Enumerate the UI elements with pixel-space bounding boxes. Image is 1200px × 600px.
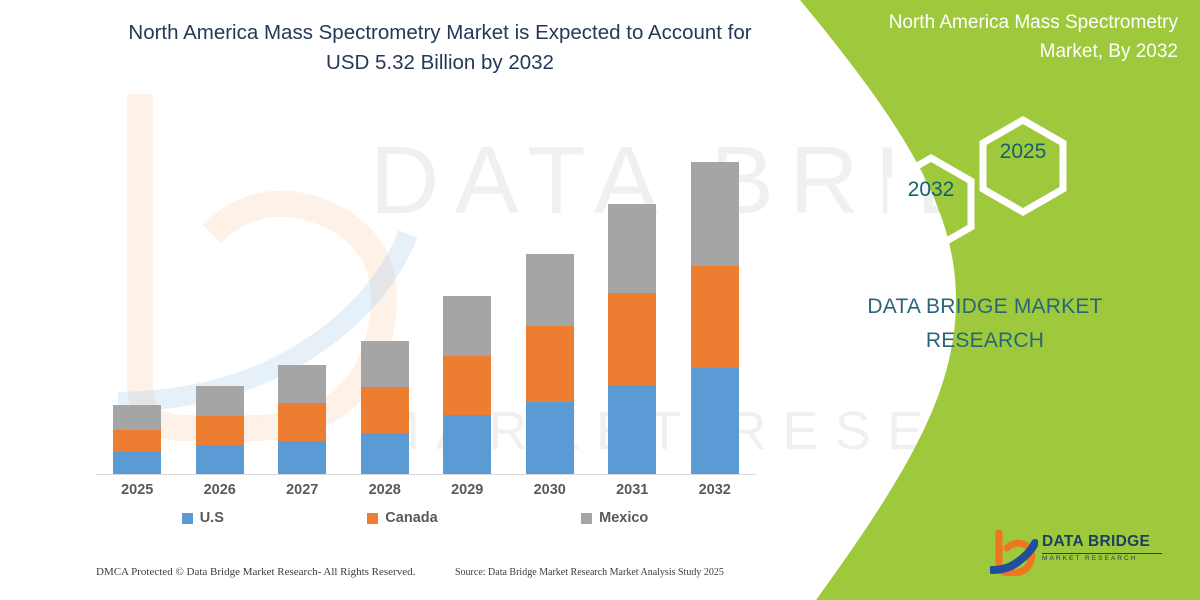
bar-segment-us-2026 — [196, 445, 244, 474]
bar-segment-mexico-2030 — [526, 254, 574, 326]
bar-column — [426, 150, 508, 474]
legend-swatch-icon — [367, 513, 378, 524]
x-tick-2026: 2026 — [179, 482, 261, 498]
chart-x-axis — [96, 474, 756, 475]
bar-column — [261, 150, 343, 474]
panel-title: North America Mass Spectrometry Market, … — [858, 8, 1178, 67]
bar-segment-us-2028 — [361, 433, 409, 474]
bar-segment-us-2030 — [526, 402, 574, 474]
stacked-bar-2026[interactable] — [196, 386, 244, 474]
x-axis-tick-labels: 20252026202720282029203020312032 — [96, 482, 756, 498]
legend-item-mexico[interactable]: Mexico — [581, 510, 648, 526]
panel-brand-text: DATA BRIDGE MARKET RESEARCH — [820, 290, 1150, 357]
legend-label: Canada — [385, 510, 437, 526]
x-tick-2032: 2032 — [674, 482, 756, 498]
bar-segment-us-2031 — [608, 385, 656, 474]
x-tick-2031: 2031 — [591, 482, 673, 498]
bar-segment-us-2025 — [113, 452, 161, 474]
bar-segment-mexico-2029 — [443, 296, 491, 356]
bar-column — [96, 150, 178, 474]
legend-item-us[interactable]: U.S — [182, 510, 224, 526]
bar-chart-plot-area — [96, 150, 756, 474]
logo-subtitle: MARKET RESEARCH — [1042, 556, 1170, 563]
stacked-bar-2027[interactable] — [278, 365, 326, 474]
x-tick-2025: 2025 — [96, 482, 178, 498]
footer-source-note: Source: Data Bridge Market Research Mark… — [455, 567, 724, 578]
x-tick-2029: 2029 — [426, 482, 508, 498]
infographic-canvas: DATA BRIDGE MARKET RESEARCH North Americ… — [0, 0, 1200, 600]
stacked-bar-2031[interactable] — [608, 204, 656, 474]
stacked-bar-2030[interactable] — [526, 254, 574, 475]
brand-logo: DATA BRIDGE MARKET RESEARCH — [990, 528, 1170, 580]
bar-segment-canada-2026 — [196, 416, 244, 445]
bar-segment-us-2032 — [691, 368, 739, 474]
page-title: North America Mass Spectrometry Market i… — [120, 18, 760, 77]
legend-swatch-icon — [182, 513, 193, 524]
legend-swatch-icon — [581, 513, 592, 524]
bar-segment-canada-2031 — [608, 293, 656, 385]
bar-segment-mexico-2028 — [361, 341, 409, 387]
bar-segment-canada-2027 — [278, 403, 326, 441]
bar-column — [179, 150, 261, 474]
bar-segment-mexico-2031 — [608, 204, 656, 293]
legend-item-canada[interactable]: Canada — [367, 510, 437, 526]
bar-segment-canada-2032 — [691, 266, 739, 368]
bar-segment-canada-2030 — [526, 326, 574, 402]
logo-divider — [1042, 553, 1162, 554]
legend-label: U.S — [200, 510, 224, 526]
stacked-bar-2025[interactable] — [113, 405, 161, 474]
bar-column — [674, 150, 756, 474]
hexagon-2032-label: 2032 — [886, 178, 976, 202]
bar-segment-canada-2029 — [443, 356, 491, 416]
bar-segment-mexico-2026 — [196, 386, 244, 415]
bar-column — [344, 150, 426, 474]
bar-segment-mexico-2027 — [278, 365, 326, 403]
stacked-bar-2029[interactable] — [443, 296, 491, 474]
x-tick-2027: 2027 — [261, 482, 343, 498]
bar-segment-us-2027 — [278, 441, 326, 474]
x-tick-2028: 2028 — [344, 482, 426, 498]
bar-segment-us-2029 — [443, 415, 491, 474]
green-side-panel: North America Mass Spectrometry Market, … — [760, 0, 1200, 600]
legend-label: Mexico — [599, 510, 648, 526]
chart-legend: U.SCanadaMexico — [110, 510, 720, 526]
x-tick-2030: 2030 — [509, 482, 591, 498]
hexagon-2025-label: 2025 — [978, 140, 1068, 164]
footer-dmca-notice: DMCA Protected © Data Bridge Market Rese… — [96, 566, 415, 578]
stacked-bar-2028[interactable] — [361, 341, 409, 474]
bar-segment-canada-2025 — [113, 430, 161, 452]
bar-segment-mexico-2032 — [691, 162, 739, 267]
bar-segment-canada-2028 — [361, 387, 409, 433]
stacked-bar-2032[interactable] — [691, 162, 739, 474]
bar-column — [591, 150, 673, 474]
logo-name: DATA BRIDGE — [1042, 534, 1170, 550]
data-bridge-logo-icon — [990, 530, 1038, 576]
bar-segment-mexico-2025 — [113, 405, 161, 430]
logo-wordmark: DATA BRIDGE MARKET RESEARCH — [1042, 534, 1170, 562]
bar-column — [509, 150, 591, 474]
